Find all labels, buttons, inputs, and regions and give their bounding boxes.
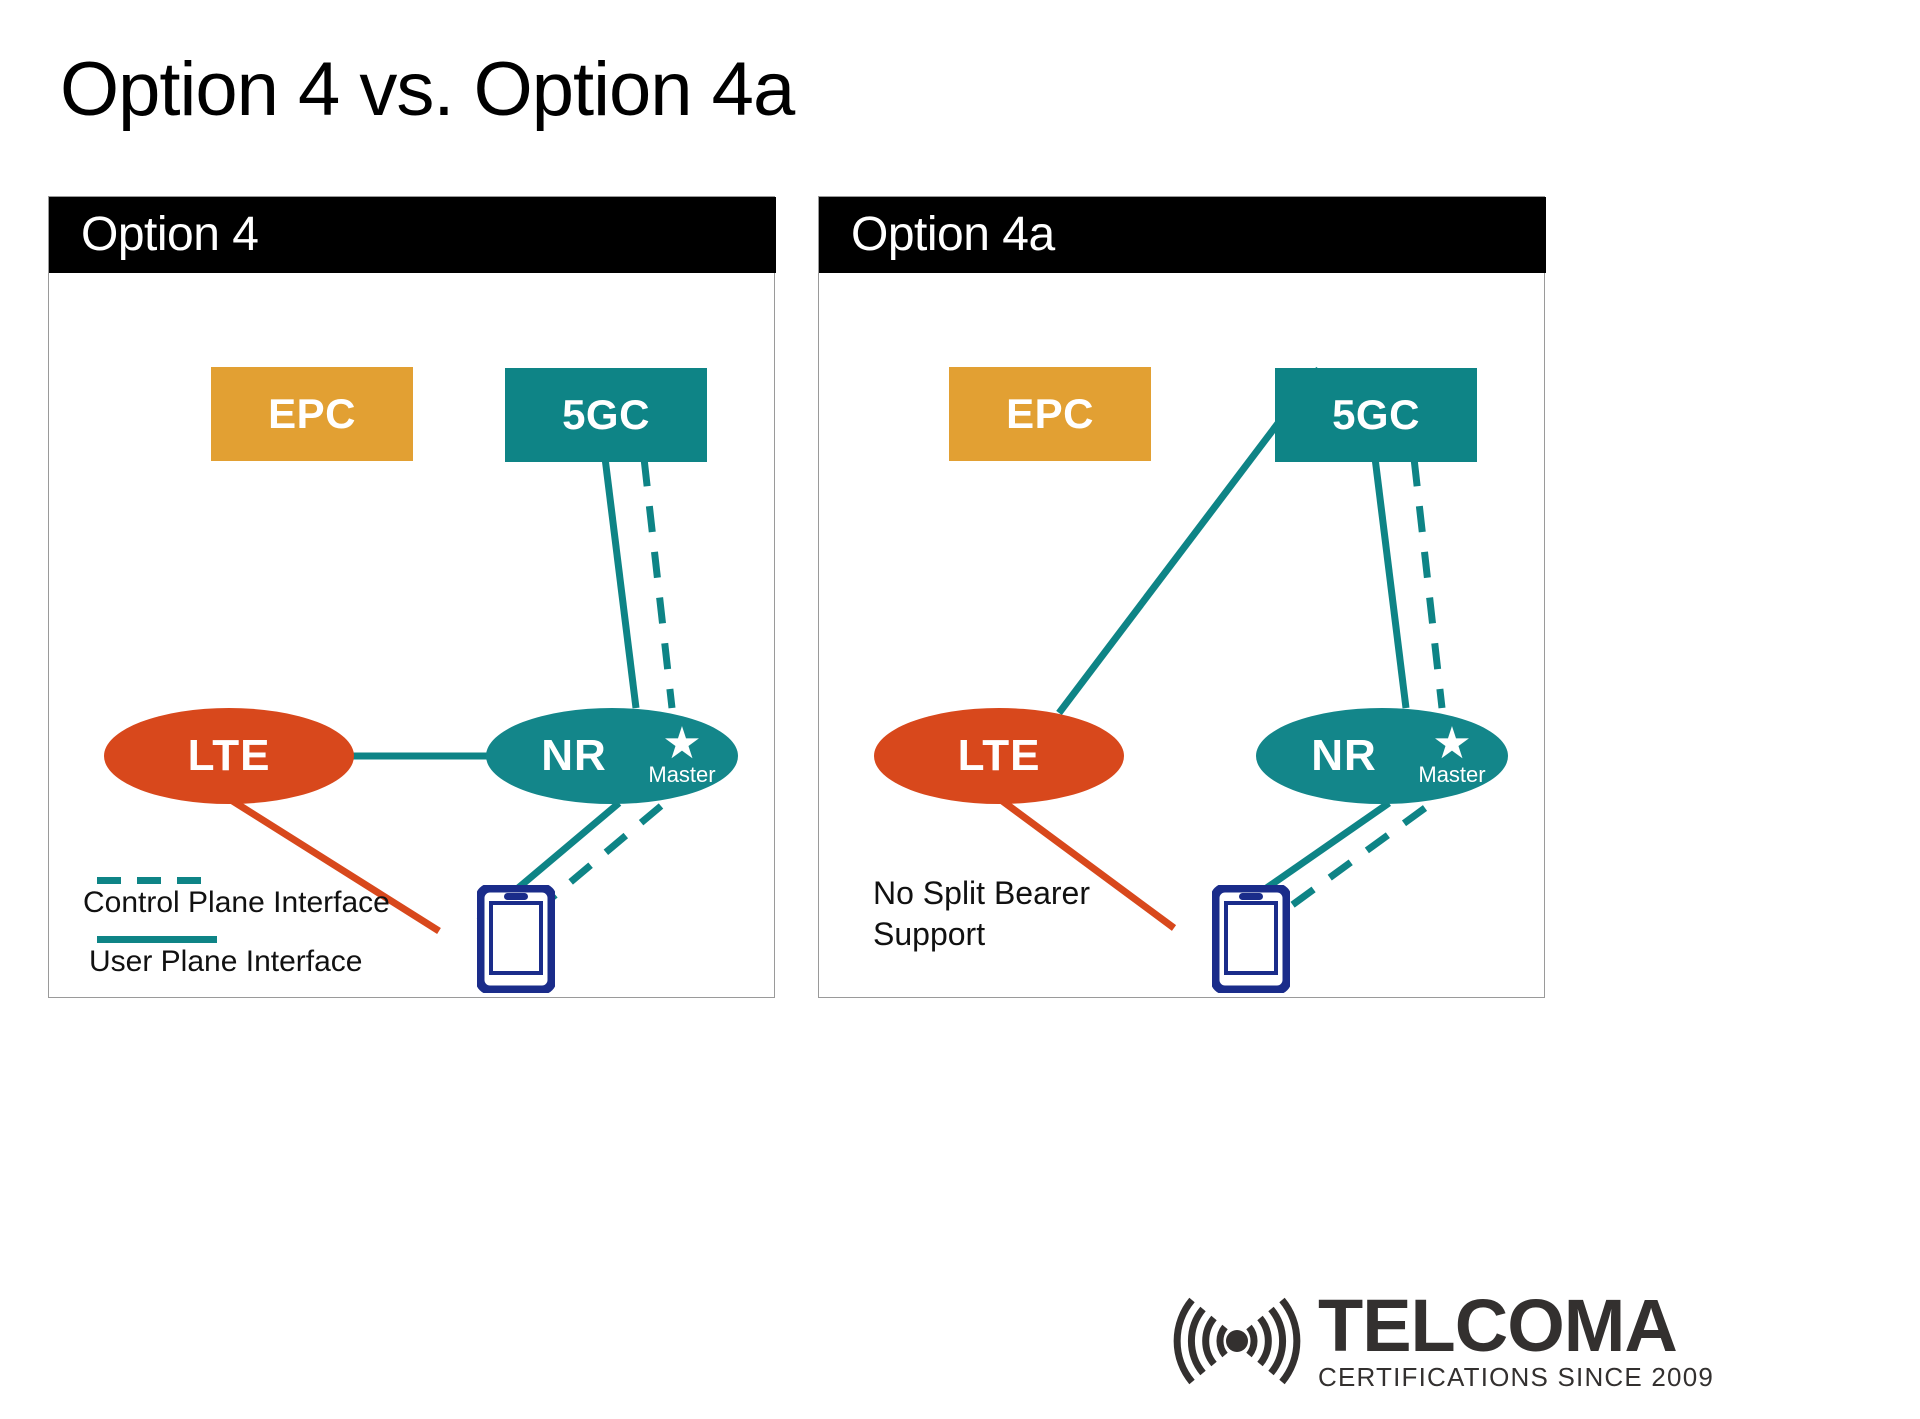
legend-row-control-plane: Control Plane Interface [83, 877, 390, 922]
star-icon: ★ [662, 726, 701, 761]
node-5gc[interactable]: 5GC [505, 368, 707, 462]
node-epc[interactable]: EPC [949, 367, 1151, 461]
no-split-bearer-note: No Split Bearer Support [873, 873, 1153, 955]
panel-option-4a: Option 4a EPC 5GC [818, 196, 1545, 998]
panel-option-4-title: Option 4 [49, 211, 258, 259]
panel-option-4a-header: Option 4a [819, 197, 1546, 273]
node-epc-label: EPC [268, 390, 356, 438]
legend-option-4: Control Plane Interface User Plane Inter… [83, 877, 390, 986]
device-icon[interactable] [477, 885, 555, 993]
node-epc[interactable]: EPC [211, 367, 413, 461]
node-nr-label: NR [541, 731, 607, 781]
page-title: Option 4 vs. Option 4a [60, 52, 794, 128]
legend-swatch-control-plane [97, 877, 217, 884]
brand-name: TELCOMA [1318, 1292, 1714, 1360]
node-5gc[interactable]: 5GC [1275, 368, 1477, 462]
slide-canvas: Option 4 vs. Option 4a Option 4 [0, 0, 1920, 1419]
node-lte[interactable]: LTE [874, 708, 1124, 804]
legend-row-user-plane: User Plane Interface [83, 936, 390, 981]
master-badge-label: Master [648, 764, 715, 786]
device-icon[interactable] [1212, 885, 1290, 993]
panel-option-4a-body: EPC 5GC LTE NR ★ Master No Split Bea [819, 273, 1544, 999]
brand-tagline: CERTIFICATIONS SINCE 2009 [1318, 1364, 1714, 1390]
node-lte[interactable]: LTE [104, 708, 354, 804]
panel-option-4: Option 4 EPC [48, 196, 775, 998]
node-nr-label: NR [1311, 731, 1377, 781]
master-badge-nr: ★ Master [1407, 721, 1497, 791]
node-epc-label: EPC [1006, 390, 1094, 438]
brand-wordmark: TELCOMA CERTIFICATIONS SINCE 2009 [1318, 1292, 1714, 1390]
legend-label-user-plane: User Plane Interface [89, 943, 390, 981]
wireless-signal-icon [1162, 1293, 1312, 1389]
panel-option-4a-title: Option 4a [819, 211, 1055, 259]
node-5gc-label: 5GC [1332, 391, 1420, 439]
panel-option-4-header: Option 4 [49, 197, 776, 273]
star-icon: ★ [1432, 726, 1471, 761]
master-badge-label: Master [1418, 764, 1485, 786]
panel-option-4-body: EPC 5GC LTE NR ★ Master [49, 273, 774, 999]
node-5gc-label: 5GC [562, 391, 650, 439]
legend-swatch-user-plane [97, 936, 217, 943]
legend-label-control-plane: Control Plane Interface [83, 884, 390, 922]
brand-logo: TELCOMA CERTIFICATIONS SINCE 2009 [1162, 1292, 1714, 1390]
master-badge-nr: ★ Master [637, 721, 727, 791]
node-lte-label: LTE [958, 731, 1041, 781]
node-lte-label: LTE [188, 731, 271, 781]
